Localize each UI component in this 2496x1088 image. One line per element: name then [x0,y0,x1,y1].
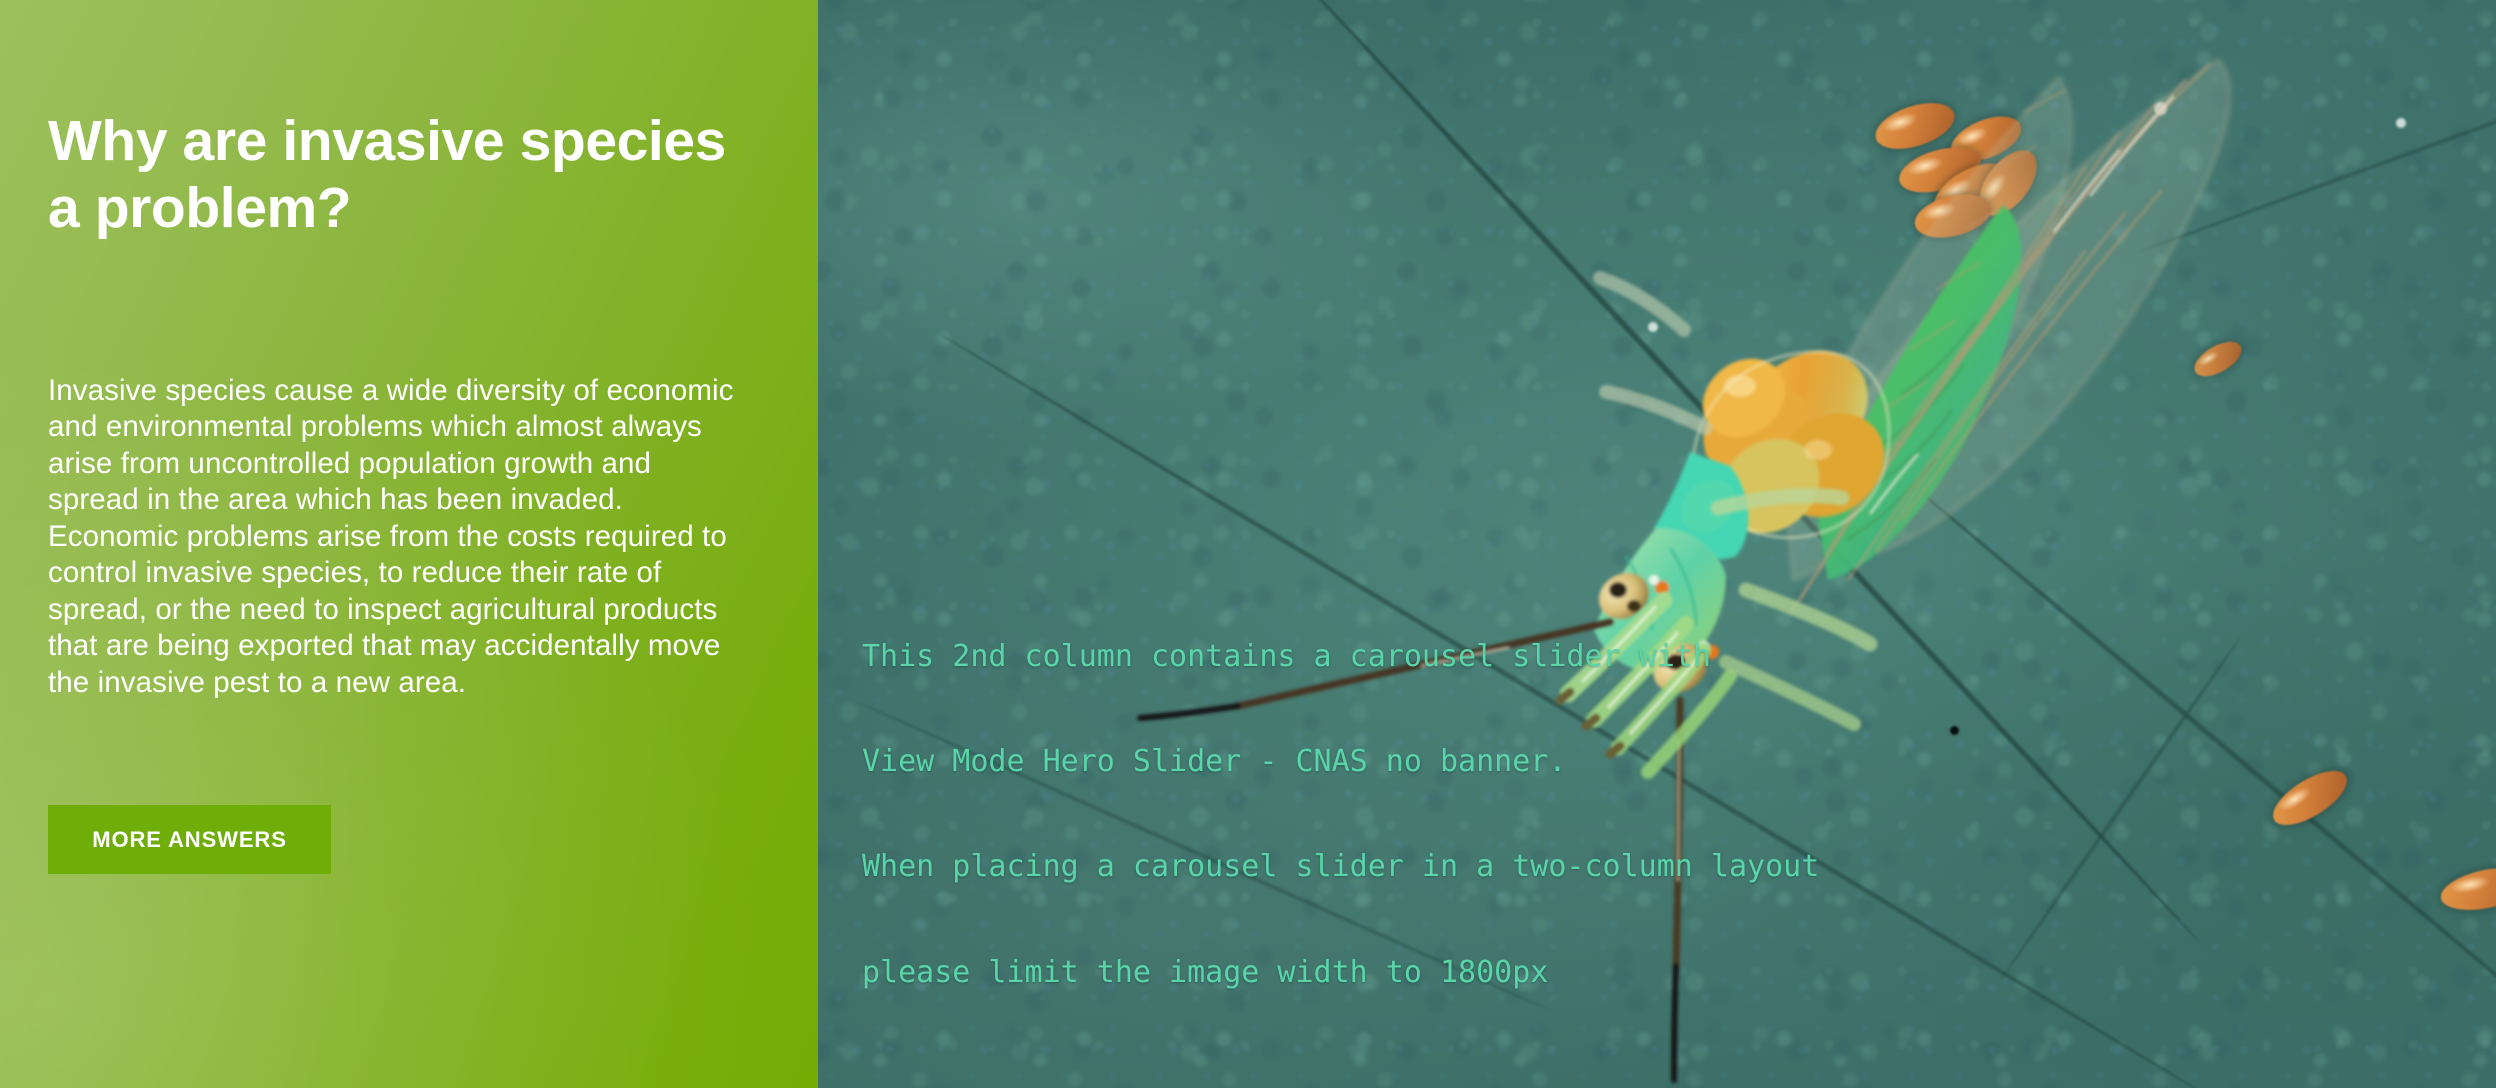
page-title: Why are invasive species a problem? [48,108,748,241]
slider-caption: This 2nd column contains a carousel slid… [862,569,1819,1060]
caption-line-4: please limit the image width to 1800px [862,955,1819,990]
hero-body-text: Invasive species cause a wide diversity … [48,373,748,701]
hero-text-column-inner: Why are invasive species a problem? Inva… [0,0,818,1088]
caption-line-3: When placing a carousel slider in a two-… [862,849,1819,884]
caption-line-1: This 2nd column contains a carousel slid… [862,639,1819,674]
hero-text-column: Why are invasive species a problem? Inva… [0,0,818,1088]
caption-line-2: View Mode Hero Slider - CNAS no banner. [862,744,1819,779]
hero-slider: Why are invasive species a problem? Inva… [0,0,2496,1088]
more-answers-button[interactable]: MORE ANSWERS [48,805,331,874]
hero-image-column: This 2nd column contains a carousel slid… [818,0,2496,1088]
